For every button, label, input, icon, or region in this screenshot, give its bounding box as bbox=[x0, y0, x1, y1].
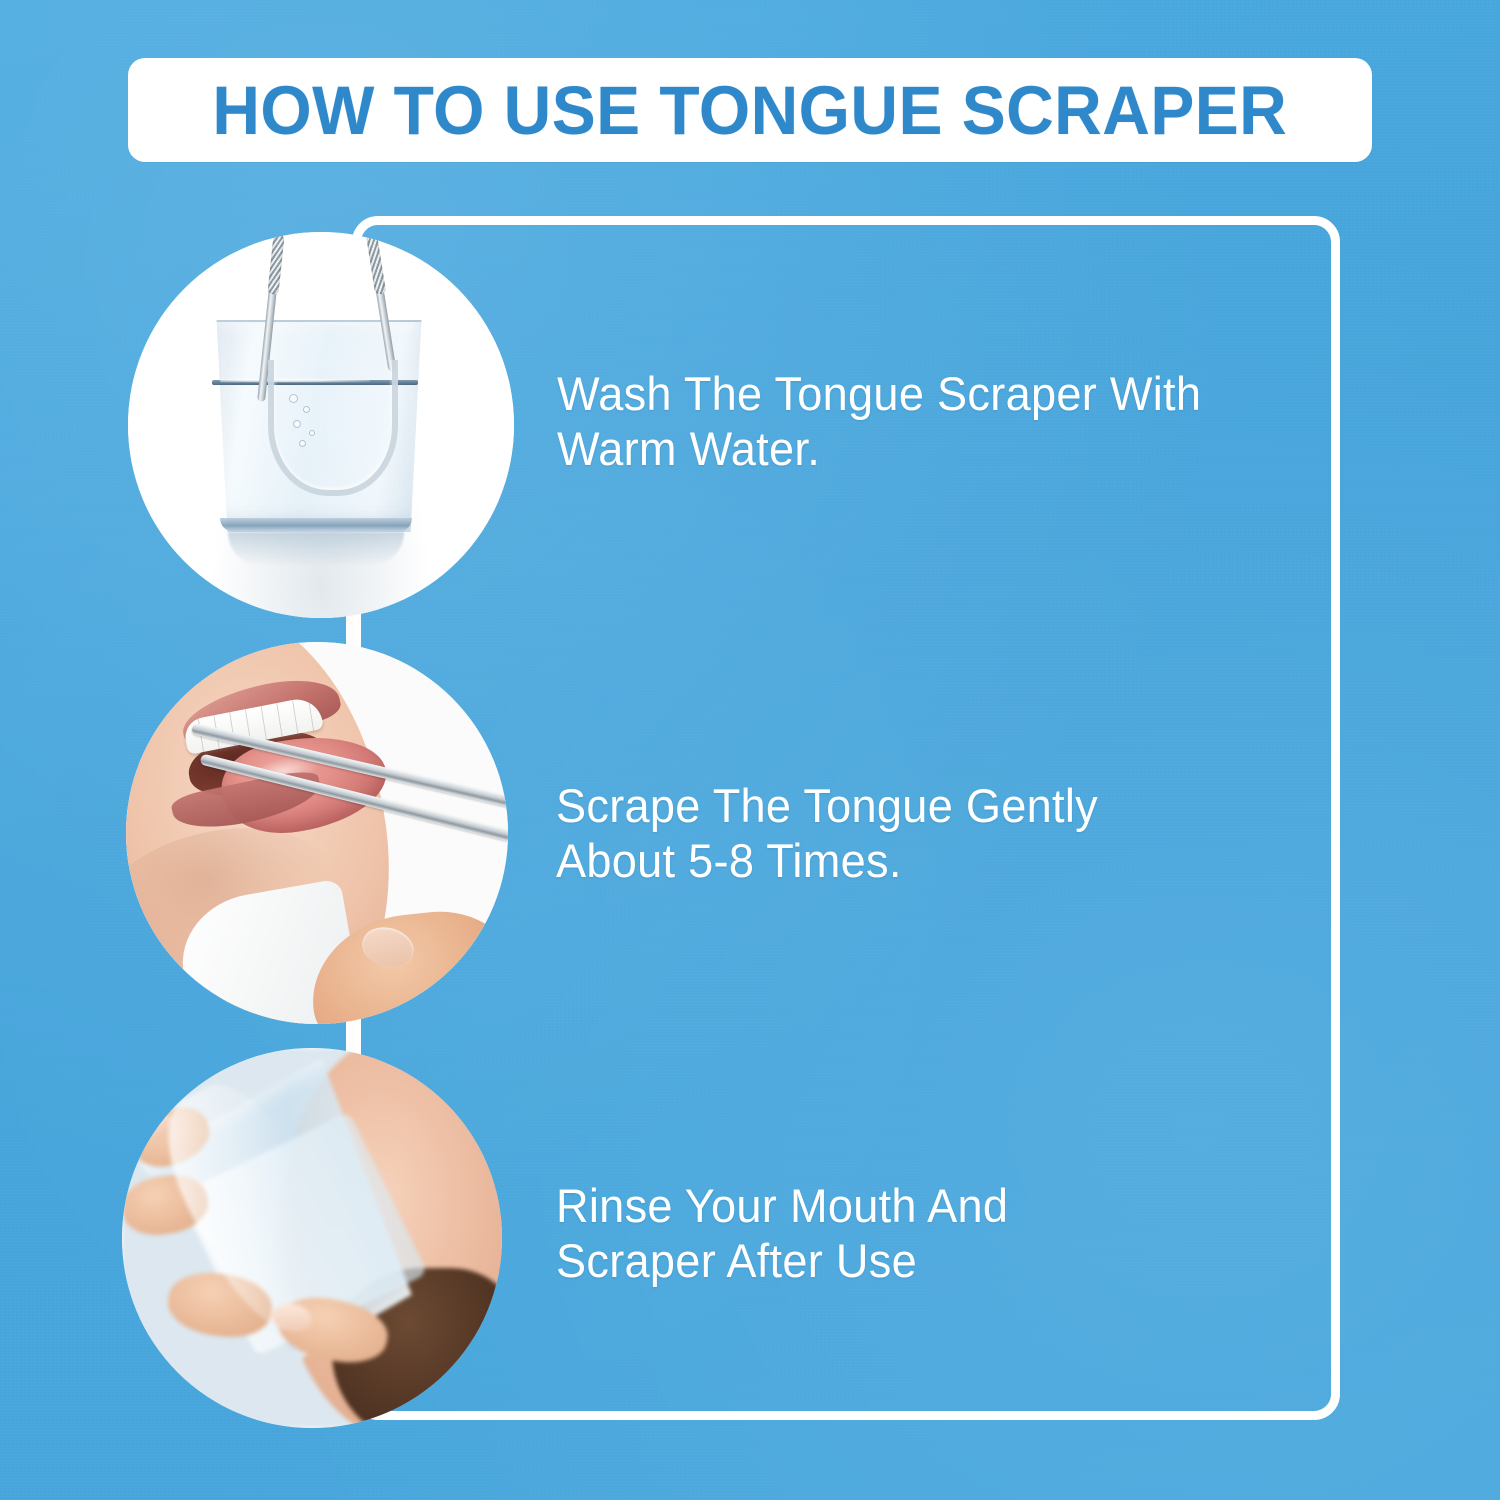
glass-of-water-scene bbox=[128, 232, 514, 618]
step-1-text: Wash The Tongue Scraper With Warm Water. bbox=[557, 366, 1325, 476]
step-3-text: Rinse Your Mouth And Scraper After Use bbox=[556, 1178, 1228, 1288]
step-2-image bbox=[126, 642, 508, 1024]
page-title: HOW TO USE TONGUE SCRAPER bbox=[213, 76, 1288, 145]
glass-reflection bbox=[228, 532, 404, 566]
rinsing-mouth-scene bbox=[122, 1048, 502, 1428]
knurled-grip-right bbox=[365, 234, 385, 295]
tongue-scraping-scene bbox=[126, 642, 508, 1024]
glass-base bbox=[220, 518, 412, 532]
scraper-u-bend bbox=[268, 360, 398, 496]
knurled-grip-left bbox=[267, 234, 284, 295]
step-3-image bbox=[122, 1048, 502, 1428]
scraper-handle-right bbox=[364, 232, 397, 372]
step-1-image bbox=[128, 232, 514, 618]
step-2-text: Scrape The Tongue Gently About 5-8 Times… bbox=[556, 778, 1286, 888]
title-card: HOW TO USE TONGUE SCRAPER bbox=[128, 58, 1372, 162]
infographic-poster: HOW TO USE TONGUE SCRAPER Wash The Tongu… bbox=[0, 0, 1500, 1500]
